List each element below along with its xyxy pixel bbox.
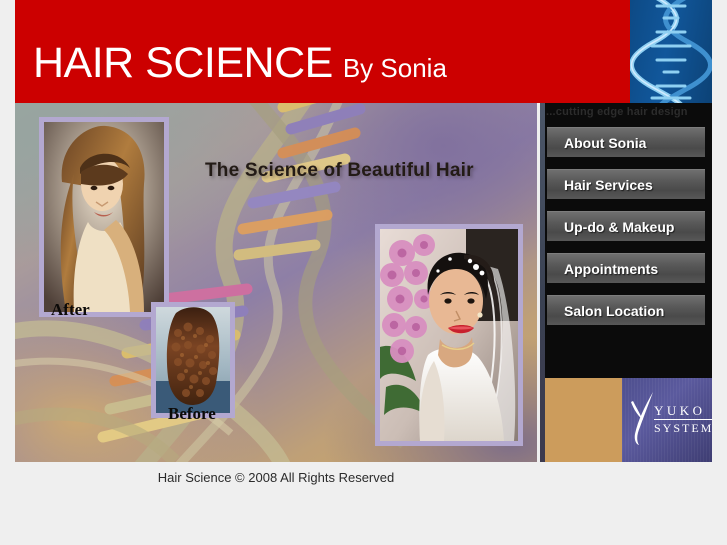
hero-tagline: The Science of Beautiful Hair xyxy=(205,160,474,182)
before-caption: Before xyxy=(168,404,216,424)
sidebar-item-updo-makeup[interactable]: Up-do & Makeup xyxy=(547,211,705,241)
site-header: HAIR SCIENCEBy Sonia xyxy=(15,0,712,103)
footer-copyright: Hair Science © 2008 All Rights Reserved xyxy=(15,462,537,492)
yuko-system-logo[interactable]: YUKO SYSTEM. xyxy=(622,378,712,462)
after-caption: After xyxy=(51,300,90,320)
main-navigation: About Sonia Hair Services Up-do & Makeup… xyxy=(547,127,705,337)
yuko-wordmark: YUKO SYSTEM. xyxy=(654,404,712,434)
brand-title: HAIR SCIENCE xyxy=(33,39,333,87)
page-root: HAIR SCIENCEBy Sonia xyxy=(0,0,727,545)
site-brand: HAIR SCIENCEBy Sonia xyxy=(33,42,447,85)
sidebar-item-appointments[interactable]: Appointments xyxy=(547,253,705,283)
yuko-system-word: SYSTEM. xyxy=(654,420,712,434)
sidebar-item-about-sonia[interactable]: About Sonia xyxy=(547,127,705,157)
yuko-system-banner: YUKO SYSTEM. xyxy=(545,378,712,462)
sidebar-item-label: Appointments xyxy=(564,261,658,277)
after-photo xyxy=(39,117,169,317)
sidebar-item-hair-services[interactable]: Hair Services xyxy=(547,169,705,199)
hero-banner: The Science of Beautiful Hair xyxy=(15,103,537,462)
brand-subtitle: By Sonia xyxy=(343,53,447,83)
sidebar-item-label: Up-do & Makeup xyxy=(564,219,674,235)
sidebar-item-label: About Sonia xyxy=(564,135,646,151)
sidebar-item-label: Hair Services xyxy=(564,177,653,193)
sidebar-item-label: Salon Location xyxy=(564,303,664,319)
before-photo xyxy=(151,302,235,418)
sidebar-tagline: ...cutting edge hair design xyxy=(546,106,688,118)
color-swatch-block xyxy=(545,378,622,462)
sidebar: ...cutting edge hair design About Sonia … xyxy=(540,103,712,462)
bride-photo xyxy=(375,224,523,446)
sidebar-item-salon-location[interactable]: Salon Location xyxy=(547,295,705,325)
dna-helix-icon xyxy=(630,0,712,103)
yuko-swoosh-icon xyxy=(629,390,655,446)
yuko-word: YUKO xyxy=(654,404,712,420)
